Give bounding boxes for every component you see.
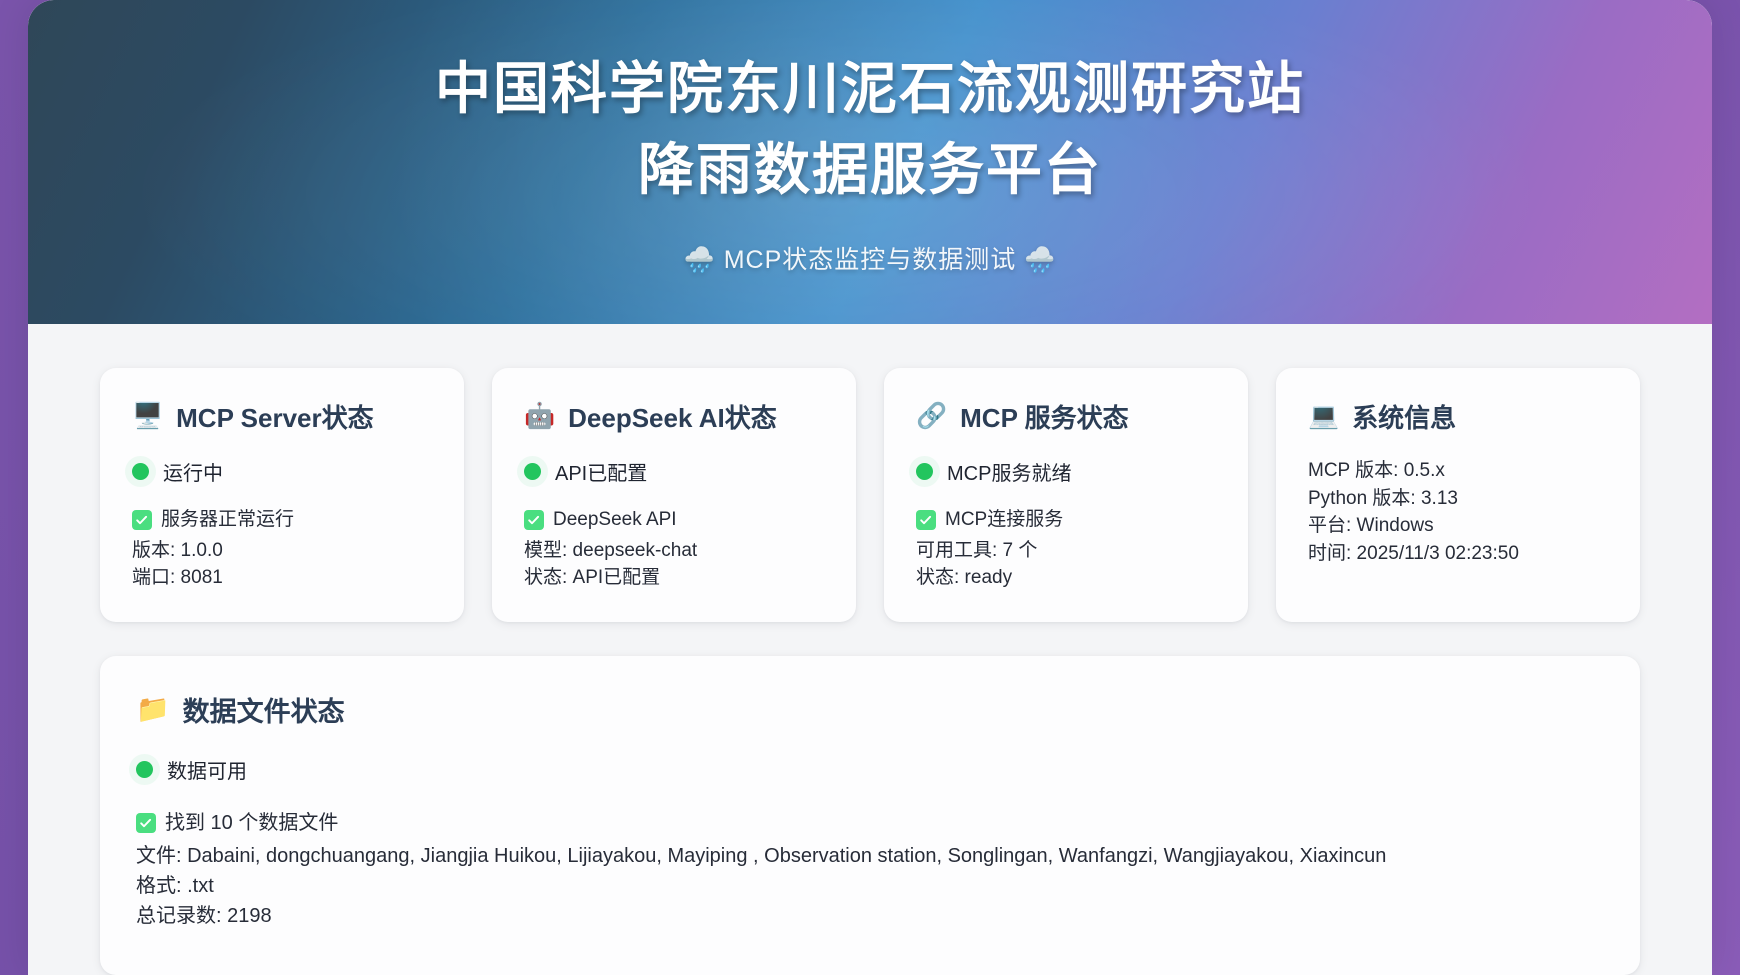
robot-icon: 🤖 xyxy=(524,404,555,429)
status-indicator: 数据可用 xyxy=(136,755,1604,784)
card-title-label: MCP Server状态 xyxy=(176,398,374,435)
detail-headline: 服务器正常运行 xyxy=(132,506,432,534)
data-files-card: 📁 数据文件状态 数据可用 找到 10 个数据文件 文件: Dabaini, d… xyxy=(100,656,1640,975)
check-icon xyxy=(524,510,544,530)
detail-headline-label: MCP连接服务 xyxy=(945,506,1063,534)
detail-row: 模型: deepseek-chat xyxy=(524,537,824,565)
status-card-grid: 🖥️ MCP Server状态 运行中 服务器正常运行 xyxy=(100,368,1640,622)
detail-headline: DeepSeek API xyxy=(524,506,824,534)
detail-row: 状态: API已配置 xyxy=(524,564,824,592)
desktop-computer-icon: 🖥️ xyxy=(132,404,163,429)
files-list-row: 文件: Dabaini, dongchuangang, Jiangjia Hui… xyxy=(136,841,1604,871)
status-dot xyxy=(524,463,541,480)
card-details: DeepSeek API 模型: deepseek-chat 状态: API已配… xyxy=(524,506,824,592)
card-details: MCP连接服务 可用工具: 7 个 状态: ready xyxy=(916,506,1216,592)
status-dot xyxy=(136,761,153,778)
detail-headline-label: 服务器正常运行 xyxy=(161,506,294,534)
laptop-icon: 💻 xyxy=(1308,404,1339,429)
app-header: 中国科学院东川泥石流观测研究站 降雨数据服务平台 🌧️ MCP状态监控与数据测试… xyxy=(28,0,1712,324)
detail-headline-label: 找到 10 个数据文件 xyxy=(165,808,338,838)
status-card-mcp-server: 🖥️ MCP Server状态 运行中 服务器正常运行 xyxy=(100,368,464,622)
detail-row: 端口: 8081 xyxy=(132,564,432,592)
detail-row: 可用工具: 7 个 xyxy=(916,537,1216,565)
detail-row: 版本: 1.0.0 xyxy=(132,537,432,565)
card-title: 🔗 MCP 服务状态 xyxy=(916,398,1216,435)
card-title: 💻 系统信息 xyxy=(1308,398,1608,435)
status-card-deepseek-ai: 🤖 DeepSeek AI状态 API已配置 DeepSeek API xyxy=(492,368,856,622)
detail-row: 时间: 2025/11/3 02:23:50 xyxy=(1308,540,1608,568)
status-label: 运行中 xyxy=(163,457,223,486)
status-label: MCP服务就绪 xyxy=(947,457,1071,486)
card-title-label: 系统信息 xyxy=(1352,398,1456,435)
check-icon xyxy=(132,510,152,530)
detail-row: 平台: Windows xyxy=(1308,512,1608,540)
status-label: API已配置 xyxy=(555,457,647,486)
check-icon xyxy=(916,510,936,530)
card-title: 🖥️ MCP Server状态 xyxy=(132,398,432,435)
detail-headline-label: DeepSeek API xyxy=(553,506,677,534)
folder-icon: 📁 xyxy=(136,696,170,723)
page-title: 中国科学院东川泥石流观测研究站 降雨数据服务平台 xyxy=(435,48,1305,210)
detail-row: 状态: ready xyxy=(916,564,1216,592)
page-frame: 中国科学院东川泥石流观测研究站 降雨数据服务平台 🌧️ MCP状态监控与数据测试… xyxy=(0,0,1740,975)
detail-headline: 找到 10 个数据文件 xyxy=(136,808,1604,838)
status-dot xyxy=(132,463,149,480)
status-dot xyxy=(916,463,933,480)
link-icon: 🔗 xyxy=(916,404,947,429)
card-details: 找到 10 个数据文件 文件: Dabaini, dongchuangang, … xyxy=(136,808,1604,931)
main-content: 🖥️ MCP Server状态 运行中 服务器正常运行 xyxy=(28,324,1712,975)
card-title: 🤖 DeepSeek AI状态 xyxy=(524,398,824,435)
format-row: 格式: .txt xyxy=(136,871,1604,901)
status-indicator: 运行中 xyxy=(132,457,432,486)
card-details: 服务器正常运行 版本: 1.0.0 端口: 8081 xyxy=(132,506,432,592)
card-title-label: 数据文件状态 xyxy=(183,690,345,729)
status-card-mcp-service: 🔗 MCP 服务状态 MCP服务就绪 MCP连接服务 xyxy=(884,368,1248,622)
status-indicator: API已配置 xyxy=(524,457,824,486)
app-shell: 中国科学院东川泥石流观测研究站 降雨数据服务平台 🌧️ MCP状态监控与数据测试… xyxy=(28,0,1712,975)
page-title-line-1: 中国科学院东川泥石流观测研究站 xyxy=(435,48,1305,129)
status-card-system-info: 💻 系统信息 MCP 版本: 0.5.x Python 版本: 3.13 平台:… xyxy=(1276,368,1640,622)
check-icon xyxy=(136,813,156,833)
page-title-line-2: 降雨数据服务平台 xyxy=(435,129,1305,210)
detail-row: Python 版本: 3.13 xyxy=(1308,485,1608,513)
card-title: 📁 数据文件状态 xyxy=(136,690,1604,729)
card-title-label: DeepSeek AI状态 xyxy=(568,398,777,435)
detail-headline: MCP连接服务 xyxy=(916,506,1216,534)
card-title-label: MCP 服务状态 xyxy=(960,398,1129,435)
detail-row: MCP 版本: 0.5.x xyxy=(1308,457,1608,485)
records-row: 总记录数: 2198 xyxy=(136,901,1604,931)
status-label: 数据可用 xyxy=(167,755,247,784)
card-details: MCP 版本: 0.5.x Python 版本: 3.13 平台: Window… xyxy=(1308,457,1608,567)
page-subtitle: 🌧️ MCP状态监控与数据测试 🌧️ xyxy=(684,240,1057,276)
status-indicator: MCP服务就绪 xyxy=(916,457,1216,486)
